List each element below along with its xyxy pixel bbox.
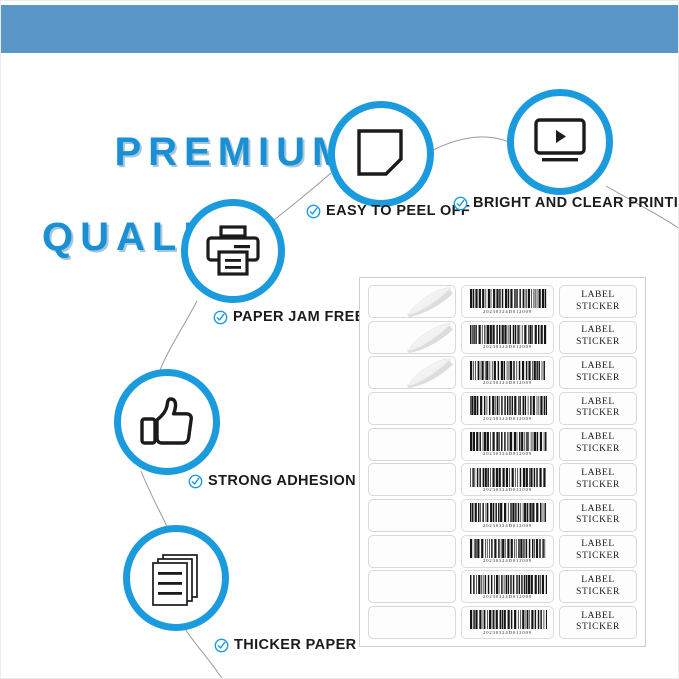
product-infographic: PREMIUM QUALITY EASY TO PEEL OFF [0,0,679,679]
label-sheet: 20230324D012009LABELSTICKER20230324D0120… [359,277,646,647]
feature-icon-strong-adhesion[interactable] [114,369,220,475]
feature-icon-thicker-paper[interactable] [123,525,229,631]
barcode-image [469,610,547,629]
barcode-number: 20230324D012009 [483,309,532,314]
label-row: 20230324D012009LABELSTICKER [368,463,637,496]
sticker-line-1: LABEL [581,539,615,551]
peel-sticker-icon [353,126,409,182]
sticker-line-1: LABEL [581,468,615,480]
blank-label-cell [368,463,456,496]
check-badge-icon [306,204,321,219]
sticker-text-cell: LABELSTICKER [559,285,637,318]
sticker-line-1: LABEL [581,504,615,516]
sticker-text-cell: LABELSTICKER [559,392,637,425]
blank-label-cell [368,570,456,603]
peeling-corner-icon [399,357,455,388]
barcode-label-cell: 20230324D012009 [461,392,554,425]
barcode-image [469,289,547,308]
sticker-line-2: STICKER [576,373,620,385]
barcode-number: 20230324D012009 [483,487,532,492]
check-badge-icon [453,196,468,211]
barcode-label-cell: 20230324D012009 [461,356,554,389]
barcode-label-cell: 20230324D012009 [461,321,554,354]
barcode-image [469,503,547,522]
barcode-number: 20230324D012009 [483,630,532,635]
blank-label-cell [368,321,456,354]
sticker-line-1: LABEL [581,325,615,337]
barcode-number: 20230324D012009 [483,451,532,456]
label-row: 20230324D012009LABELSTICKER [368,285,637,318]
sticker-text-cell: LABELSTICKER [559,570,637,603]
sticker-line-1: LABEL [581,432,615,444]
blank-label-cell [368,606,456,639]
sticker-text-cell: LABELSTICKER [559,463,637,496]
feature-label-text: BRIGHT AND CLEAR PRINTING [473,195,679,211]
feature-label-bright-and-clear-printing: BRIGHT AND CLEAR PRINTING [453,195,679,211]
feature-label-thicker-paper: THICKER PAPER [214,637,357,653]
barcode-number: 20230324D012009 [483,344,532,349]
peeling-corner-icon [399,322,455,353]
sticker-line-2: STICKER [576,302,620,314]
barcode-label-cell: 20230324D012009 [461,463,554,496]
feature-label-text: EASY TO PEEL OFF [326,203,470,219]
barcode-image [469,396,547,415]
blank-label-cell [368,499,456,532]
feature-label-text: PAPER JAM FREE [233,309,365,325]
sticker-text-cell: LABELSTICKER [559,428,637,461]
check-badge-icon [188,474,203,489]
sticker-line-2: STICKER [576,337,620,349]
sticker-line-1: LABEL [581,611,615,623]
sticker-line-2: STICKER [576,622,620,634]
barcode-label-cell: 20230324D012009 [461,570,554,603]
sticker-line-1: LABEL [581,575,615,587]
barcode-label-cell: 20230324D012009 [461,285,554,318]
sticker-line-2: STICKER [576,408,620,420]
barcode-number: 20230324D012009 [483,523,532,528]
barcode-image [469,325,547,344]
label-row: 20230324D012009LABELSTICKER [368,606,637,639]
sticker-line-2: STICKER [576,587,620,599]
barcode-label-cell: 20230324D012009 [461,428,554,461]
label-row: 20230324D012009LABELSTICKER [368,392,637,425]
barcode-label-cell: 20230324D012009 [461,535,554,568]
peeling-corner-icon [399,286,455,317]
barcode-image [469,361,547,380]
sticker-text-cell: LABELSTICKER [559,321,637,354]
sticker-line-2: STICKER [576,551,620,563]
barcode-number: 20230324D012009 [483,558,532,563]
feature-icon-paper-jam-free[interactable] [181,199,285,303]
blank-label-cell [368,285,456,318]
printer-icon [204,224,262,278]
barcode-label-cell: 20230324D012009 [461,499,554,532]
sticker-text-cell: LABELSTICKER [559,535,637,568]
barcode-number: 20230324D012009 [483,594,532,599]
feature-label-paper-jam-free: PAPER JAM FREE [213,309,365,325]
sticker-line-2: STICKER [576,480,620,492]
sticker-line-2: STICKER [576,515,620,527]
sticker-line-1: LABEL [581,397,615,409]
barcode-number: 20230324D012009 [483,380,532,385]
label-row: 20230324D012009LABELSTICKER [368,356,637,389]
blank-label-cell [368,356,456,389]
check-badge-icon [214,638,229,653]
sticker-text-cell: LABELSTICKER [559,606,637,639]
feature-label-text: STRONG ADHESION [208,473,356,489]
barcode-label-cell: 20230324D012009 [461,606,554,639]
sticker-line-1: LABEL [581,290,615,302]
feature-label-strong-adhesion: STRONG ADHESION [188,473,356,489]
barcode-number: 20230324D012009 [483,416,532,421]
barcode-image [469,575,547,594]
thumbs-up-icon [138,395,196,449]
feature-icon-bright-and-clear-printing[interactable] [507,89,613,195]
sticker-text-cell: LABELSTICKER [559,356,637,389]
paper-stack-icon [147,550,205,606]
barcode-image [469,539,547,558]
blank-label-cell [368,428,456,461]
sticker-line-1: LABEL [581,361,615,373]
label-row: 20230324D012009LABELSTICKER [368,535,637,568]
blank-label-cell [368,535,456,568]
label-row: 20230324D012009LABELSTICKER [368,321,637,354]
feature-label-text: THICKER PAPER [234,637,357,653]
check-badge-icon [213,310,228,325]
blank-label-cell [368,392,456,425]
monitor-play-icon [531,116,589,168]
sticker-line-2: STICKER [576,444,620,456]
label-row: 20230324D012009LABELSTICKER [368,570,637,603]
barcode-image [469,432,547,451]
label-row: 20230324D012009LABELSTICKER [368,499,637,532]
sticker-text-cell: LABELSTICKER [559,499,637,532]
label-row: 20230324D012009LABELSTICKER [368,428,637,461]
feature-icon-easy-to-peel-off[interactable] [328,101,434,207]
feature-label-easy-to-peel-off: EASY TO PEEL OFF [306,203,470,219]
barcode-image [469,468,547,487]
